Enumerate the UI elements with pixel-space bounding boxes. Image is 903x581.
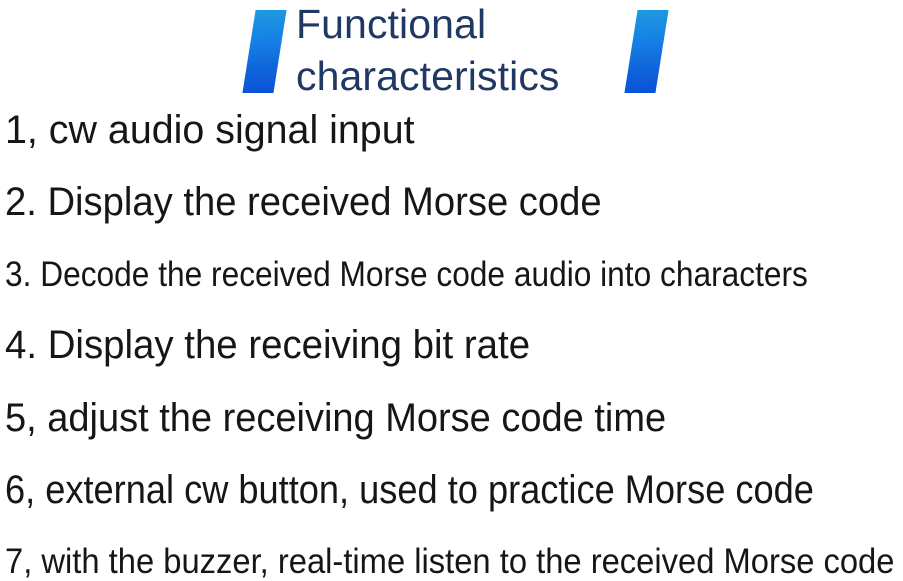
- title-header: Functional characteristics: [0, 0, 903, 104]
- list-item: 7, with the buzzer, real-time listen to …: [5, 544, 894, 579]
- list-item: 6, external cw button, used to practice …: [5, 470, 814, 510]
- list-item: 2. Display the received Morse code: [5, 182, 602, 222]
- list-item: 1, cw audio signal input: [5, 110, 415, 150]
- blue-slash-mark-right-icon: [624, 10, 668, 93]
- list-item: 3. Decode the received Morse code audio …: [5, 257, 808, 292]
- page-title: Functional characteristics: [296, 0, 626, 102]
- product-feature-graphic: Functional characteristics 1, cw audio s…: [0, 0, 903, 581]
- blue-slash-mark-left-icon: [242, 10, 286, 93]
- list-item: 5, adjust the receiving Morse code time: [5, 398, 666, 438]
- list-item: 4. Display the receiving bit rate: [5, 325, 530, 365]
